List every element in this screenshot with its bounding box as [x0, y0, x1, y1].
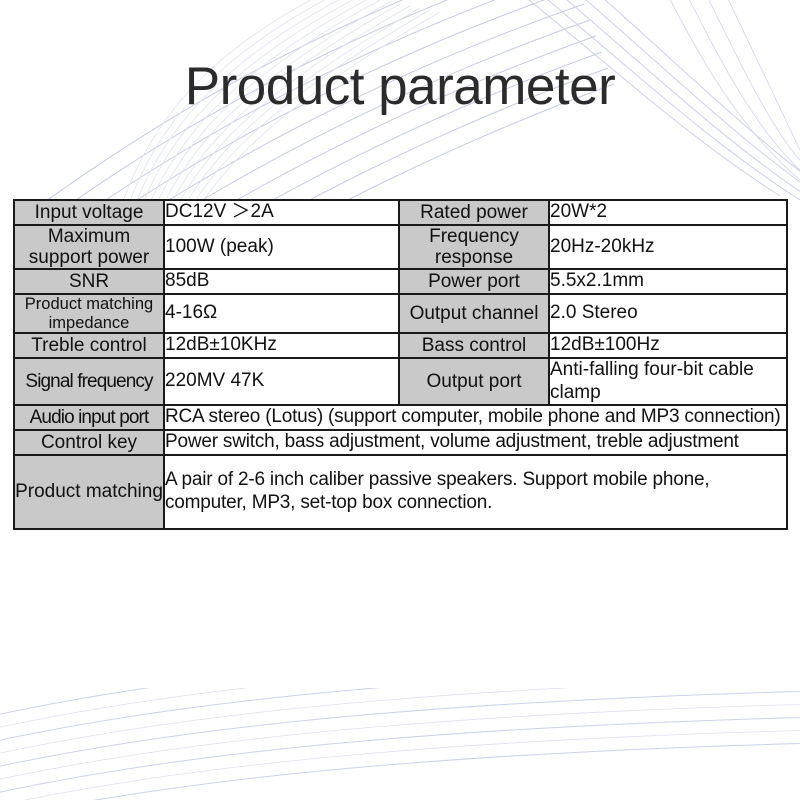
page-title: Product parameter [0, 58, 800, 116]
spec-label: Input voltage [14, 200, 164, 225]
table-row: Input voltage DC12V ＞2A Rated power 20W*… [14, 200, 787, 225]
product-parameter-page: Product parameter Input voltage DC12V ＞2… [0, 0, 800, 800]
table-row: Treble control 12dB±10KHz Bass control 1… [14, 333, 787, 358]
table-row: Signal frequency 220MV 47K Output port A… [14, 358, 787, 406]
spec-value: 12dB±10KHz [164, 333, 399, 358]
spec-value: 20Hz-20kHz [549, 225, 787, 270]
spec-value: DC12V ＞2A [164, 200, 399, 225]
spec-label: Power port [399, 269, 549, 294]
table-row: Maximum support power 100W (peak) Freque… [14, 225, 787, 270]
spec-label: Treble control [14, 333, 164, 358]
spec-value: 220MV 47K [164, 358, 399, 406]
spec-value: 100W (peak) [164, 225, 399, 270]
spec-label: Rated power [399, 200, 549, 225]
spec-label: Audio input port [14, 405, 164, 430]
table-row: SNR 85dB Power port 5.5x2.1mm [14, 269, 787, 294]
spec-label: Signal frequency [14, 358, 164, 406]
spec-value: 20W*2 [549, 200, 787, 225]
table-row: Product matching impedance 4-16Ω Output … [14, 294, 787, 333]
spec-value: 85dB [164, 269, 399, 294]
spec-value: RCA stereo (Lotus) (support computer, mo… [164, 405, 787, 430]
spec-value: 2.0 Stereo [549, 294, 787, 333]
spec-value: A pair of 2-6 inch caliber passive speak… [164, 455, 787, 529]
spec-label: Frequency response [399, 225, 549, 270]
spec-label: Product matching impedance [14, 294, 164, 333]
spec-label: Bass control [399, 333, 549, 358]
spec-label: Output channel [399, 294, 549, 333]
specification-table: Input voltage DC12V ＞2A Rated power 20W*… [13, 199, 788, 530]
spec-label: Output port [399, 358, 549, 406]
table-row: Audio input port RCA stereo (Lotus) (sup… [14, 405, 787, 430]
spec-label: SNR [14, 269, 164, 294]
spec-value: 4-16Ω [164, 294, 399, 333]
table-row: Control key Power switch, bass adjustmen… [14, 430, 787, 455]
spec-label: Control key [14, 430, 164, 455]
table-row: Product matching A pair of 2-6 inch cali… [14, 455, 787, 529]
spec-label: Product matching [14, 455, 164, 529]
spec-value: Anti-falling four-bit cable clamp [549, 358, 787, 406]
spec-value: Power switch, bass adjustment, volume ad… [164, 430, 787, 455]
spec-value: 12dB±100Hz [549, 333, 787, 358]
spec-label: Maximum support power [14, 225, 164, 270]
spec-value: 5.5x2.1mm [549, 269, 787, 294]
